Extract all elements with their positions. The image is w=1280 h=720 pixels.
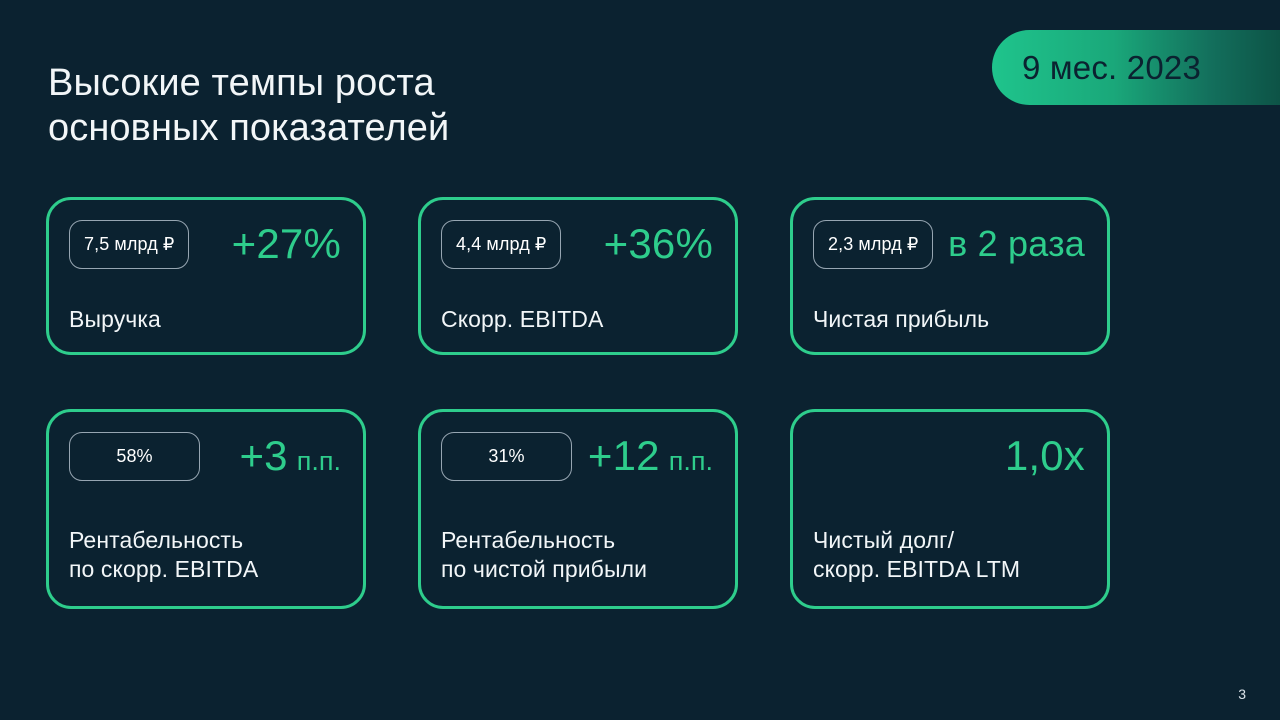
metric-delta: +3 п.п. <box>239 435 343 477</box>
metric-card-revenue: 7,5 млрд ₽ +27% Выручка <box>46 197 366 355</box>
metric-card-net-debt-ebitda: 1,0x Чистый долг/ скорр. EBITDA LTM <box>790 409 1110 609</box>
metric-card-label: Выручка <box>69 305 347 334</box>
metric-card-label: Чистый долг/ скорр. EBITDA LTM <box>813 526 1091 584</box>
metric-card-net-profit-margin: 31% +12 п.п. Рентабельность по чистой пр… <box>418 409 738 609</box>
metric-card-net-profit: 2,3 млрд ₽ в 2 раза Чистая прибыль <box>790 197 1110 355</box>
presentation-slide: Высокие темпы роста основных показателей… <box>0 0 1280 720</box>
metric-card-label: Чистая прибыль <box>813 305 1091 334</box>
period-badge: 9 мес. 2023 <box>992 30 1280 105</box>
metric-delta: +27% <box>232 223 343 265</box>
metric-card-header: 4,4 млрд ₽ +36% <box>421 200 735 271</box>
metric-delta: +12 п.п. <box>588 435 715 477</box>
metric-value-pill: 58% <box>69 432 200 481</box>
metric-delta: 1,0x <box>1005 435 1087 477</box>
metric-card-label: Скорр. EBITDA <box>441 305 719 334</box>
metric-card-header: 2,3 млрд ₽ в 2 раза <box>793 200 1107 271</box>
metric-delta-value: +3 <box>239 435 287 477</box>
period-badge-label: 9 мес. 2023 <box>1022 49 1201 87</box>
metric-delta-value: в 2 раза <box>948 226 1085 262</box>
metric-delta: в 2 раза <box>948 226 1087 262</box>
metric-delta: +36% <box>604 223 715 265</box>
metric-value-pill: 2,3 млрд ₽ <box>813 220 933 269</box>
metric-delta-value: +36% <box>604 223 713 265</box>
metric-delta-value: +12 <box>588 435 660 477</box>
metrics-grid: 7,5 млрд ₽ +27% Выручка 4,4 млрд ₽ +36% … <box>46 197 1130 609</box>
metric-delta-unit: п.п. <box>297 448 341 475</box>
metric-card-header: 1,0x <box>793 412 1107 483</box>
metric-value-pill: 31% <box>441 432 572 481</box>
metric-delta-value: 1,0x <box>1005 435 1085 477</box>
metric-value-pill: 4,4 млрд ₽ <box>441 220 561 269</box>
metric-card-header: 7,5 млрд ₽ +27% <box>49 200 363 271</box>
page-number: 3 <box>1238 686 1246 702</box>
metric-card-adjusted-ebitda: 4,4 млрд ₽ +36% Скорр. EBITDA <box>418 197 738 355</box>
page-title: Высокие темпы роста основных показателей <box>48 61 688 151</box>
metric-card-header: 58% +3 п.п. <box>49 412 363 483</box>
metric-value-pill: 7,5 млрд ₽ <box>69 220 189 269</box>
metric-card-ebitda-margin: 58% +3 п.п. Рентабельность по скорр. EBI… <box>46 409 366 609</box>
metric-card-label: Рентабельность по чистой прибыли <box>441 526 719 584</box>
metric-card-label: Рентабельность по скорр. EBITDA <box>69 526 347 584</box>
metric-card-header: 31% +12 п.п. <box>421 412 735 483</box>
metric-delta-unit: п.п. <box>669 448 713 475</box>
metric-delta-value: +27% <box>232 223 341 265</box>
